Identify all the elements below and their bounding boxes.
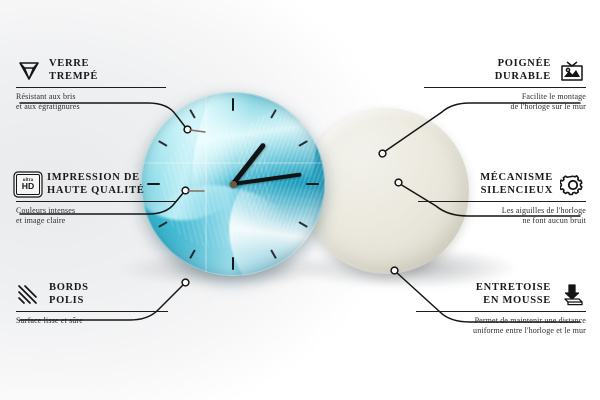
callout-header: VERRE TREMPÉ	[16, 58, 186, 83]
callout-mecanisme-silencieux[interactable]: MÉCANISME SILENCIEUX Les aiguilles de l'…	[402, 172, 586, 226]
callout-title: IMPRESSION DE HAUTE QUALITÉ	[47, 172, 145, 197]
ultra-hd-icon-main-text: HD	[22, 182, 34, 191]
callout-title: POIGNÉE DURABLE	[495, 58, 551, 83]
callout-entretoise-en-mousse[interactable]: ENTRETOISE EN MOUSSE Permet de maintenir…	[400, 282, 586, 336]
callout-description: Résistant aux bris et aux égratignures	[16, 92, 186, 111]
ultra-hd-icon: ultra HD	[16, 174, 40, 195]
callout-divider	[16, 87, 166, 88]
gear-icon	[560, 173, 586, 197]
callout-header: MÉCANISME SILENCIEUX	[402, 172, 586, 197]
callout-description: Surface lisse et sûre	[16, 316, 186, 326]
callout-description: Couleurs intenses et image claire	[16, 206, 196, 225]
callout-header: BORDS POLIS	[16, 282, 186, 307]
callout-header: ultra HD IMPRESSION DE HAUTE QUALITÉ	[16, 172, 196, 197]
callout-description: Facilite le montage de l'horloge sur le …	[406, 92, 586, 111]
callout-description: Permet de maintenir une distance uniform…	[400, 316, 586, 335]
callout-bords-polis[interactable]: BORDS POLIS Surface lisse et sûre	[16, 282, 186, 326]
picture-hanger-icon	[558, 59, 586, 83]
diamond-icon	[16, 59, 42, 83]
callout-divider	[16, 311, 168, 312]
callout-divider	[416, 311, 586, 312]
callout-divider	[418, 201, 586, 202]
callout-title: VERRE TREMPÉ	[49, 58, 98, 83]
callout-verre-trempe[interactable]: VERRE TREMPÉ Résistant aux bris et aux é…	[16, 58, 186, 112]
callout-title: BORDS POLIS	[49, 282, 89, 307]
callout-header: ENTRETOISE EN MOUSSE	[400, 282, 586, 307]
callout-title: MÉCANISME SILENCIEUX	[480, 172, 553, 197]
callout-header: POIGNÉE DURABLE	[406, 58, 586, 83]
callout-poignee-durable[interactable]: POIGNÉE DURABLE Facilite le montage de l…	[406, 58, 586, 112]
callout-impression-haute-qualite[interactable]: ultra HD IMPRESSION DE HAUTE QUALITÉ Cou…	[16, 172, 196, 226]
callout-divider	[16, 201, 176, 202]
callout-title: ENTRETOISE EN MOUSSE	[476, 282, 551, 307]
callout-divider	[424, 87, 586, 88]
infographic-canvas: VERRE TREMPÉ Résistant aux bris et aux é…	[0, 0, 600, 400]
callout-description: Les aiguilles de l'horloge ne font aucun…	[402, 206, 586, 225]
spacer-press-icon	[558, 283, 586, 307]
diagonal-lines-icon	[16, 283, 42, 307]
